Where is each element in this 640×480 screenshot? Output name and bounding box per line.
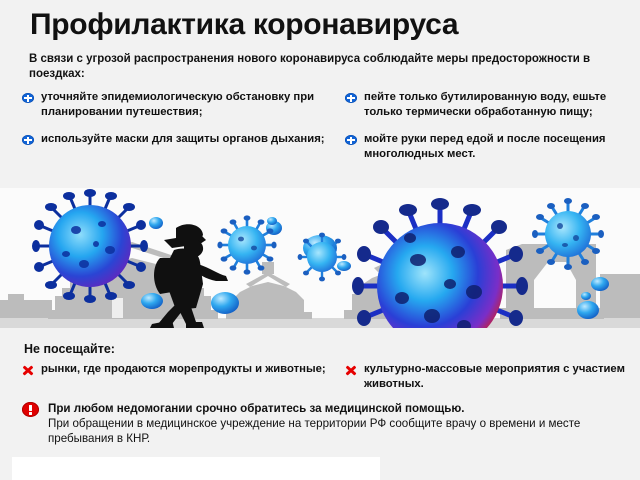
alert-block: При любом недомогании срочно обратитесь …	[22, 401, 622, 446]
red-exclamation-circle-icon	[22, 402, 39, 417]
virus-particle-edge	[298, 233, 347, 282]
intro-text: В связи с угрозой распространения нового…	[29, 52, 619, 81]
list-item: используйте маски для защиты органов дых…	[22, 132, 332, 147]
list-item: мойте руки перед едой и после посещения …	[345, 132, 635, 162]
advice-list-right: пейте только бутилированную воду, ешьте …	[345, 90, 635, 174]
list-item-label: пейте только бутилированную воду, ешьте …	[357, 90, 635, 120]
list-item-label: рынки, где продаются морепродукты и живо…	[34, 362, 332, 377]
do-not-visit-list-left: рынки, где продаются морепродукты и живо…	[22, 362, 332, 389]
blue-plus-circle-icon	[22, 135, 34, 145]
red-x-icon	[345, 364, 357, 376]
footer-panel	[12, 457, 380, 480]
list-item: уточняйте эпидемиологическую обстановку …	[22, 90, 332, 120]
virus-particle-left	[32, 189, 148, 303]
do-not-visit-list-right: культурно-массовые мероприятия с участие…	[345, 362, 635, 404]
infographic-page: Профилактика коронавируса В связи с угро…	[0, 0, 640, 480]
alert-text: При любом недомогании срочно обратитесь …	[39, 401, 622, 446]
illustration-graphic	[0, 188, 640, 328]
red-x-icon	[22, 364, 34, 376]
do-not-visit-heading: Не посещайте:	[24, 342, 115, 356]
list-item-label: мойте руки перед едой и после посещения …	[357, 132, 635, 162]
illustration-band	[0, 188, 640, 328]
list-item: культурно-массовые мероприятия с участие…	[345, 362, 635, 392]
list-item: рынки, где продаются морепродукты и живо…	[22, 362, 332, 377]
list-item-label: используйте маски для защиты органов дых…	[34, 132, 332, 147]
alert-headline: При любом недомогании срочно обратитесь …	[48, 401, 622, 416]
blue-plus-circle-icon	[345, 135, 357, 145]
page-title: Профилактика коронавируса	[30, 8, 458, 42]
blue-plus-circle-icon	[345, 93, 357, 103]
list-item-label: уточняйте эпидемиологическую обстановку …	[34, 90, 332, 120]
blue-plus-circle-icon	[22, 93, 34, 103]
alert-detail: При обращении в медицинское учреждение н…	[48, 416, 622, 446]
list-item: пейте только бутилированную воду, ешьте …	[345, 90, 635, 120]
advice-list-left: уточняйте эпидемиологическую обстановку …	[22, 90, 332, 159]
list-item-label: культурно-массовые мероприятия с участие…	[357, 362, 635, 392]
